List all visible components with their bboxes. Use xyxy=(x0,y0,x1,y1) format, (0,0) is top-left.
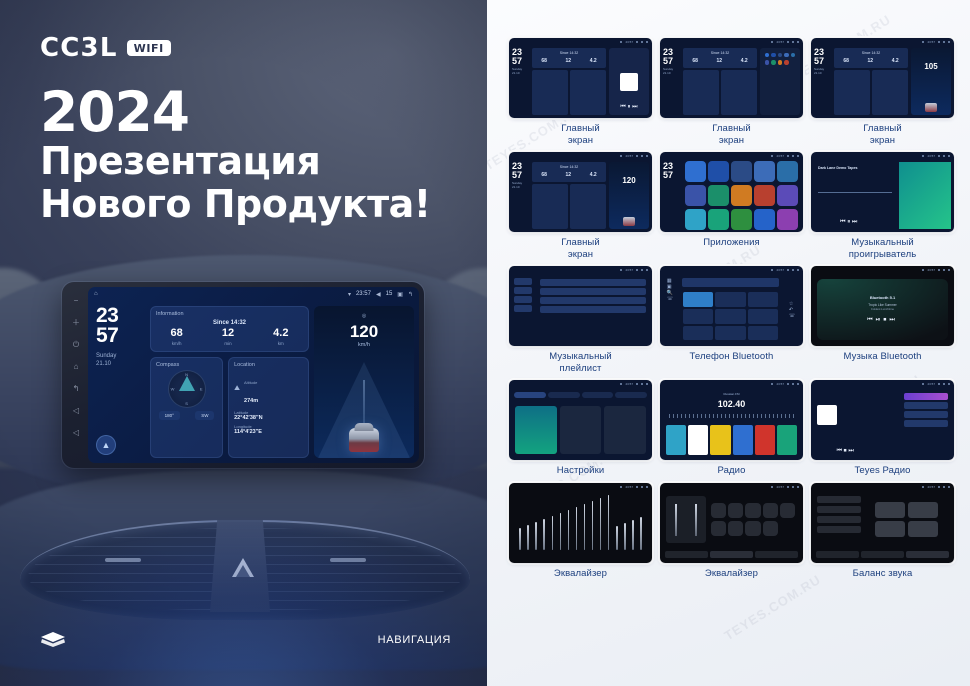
gallery-item[interactable]: 23:572357Sunday21.10Since 14:3268124.212… xyxy=(509,152,652,260)
thumb-app-icon[interactable] xyxy=(708,185,729,206)
dial-key[interactable] xyxy=(748,309,778,324)
status-dot xyxy=(943,486,945,488)
thumb-app-grid[interactable] xyxy=(709,496,797,543)
balance-seats[interactable] xyxy=(865,496,948,543)
balance-option[interactable] xyxy=(817,506,861,513)
thumb-eq-band[interactable] xyxy=(616,526,618,550)
thumb-equalizer-bands[interactable] xyxy=(509,490,652,563)
thumb-stats: 68124.2 xyxy=(532,55,606,66)
radio-preset[interactable] xyxy=(733,425,753,455)
thumb-app-icon[interactable] xyxy=(685,161,706,182)
dial-key[interactable] xyxy=(748,292,778,307)
status-dot xyxy=(641,41,643,43)
eq-tab[interactable] xyxy=(665,551,708,558)
stat-distance: 4.2 km xyxy=(273,328,288,346)
thumb-app-icon[interactable] xyxy=(771,53,775,57)
thumb-app-icon[interactable] xyxy=(731,185,752,206)
balance-option[interactable] xyxy=(817,516,861,523)
thumb-clock: 2357Sunday21.10 xyxy=(512,162,529,229)
thumb-location-card[interactable] xyxy=(570,70,606,115)
hero-panel: CC3L WIFI 2024 Презентация Нового Продук… xyxy=(0,0,487,686)
thumb-eq-band[interactable] xyxy=(608,495,610,550)
thumb-nav-item[interactable] xyxy=(514,278,532,285)
gallery-item[interactable]: 23:57Dark Lane Demo Tapes⏮ ⏸ ⏭Музыкальны… xyxy=(811,152,954,260)
back-icon[interactable]: ↰ xyxy=(408,291,413,298)
thumb-eq-band[interactable] xyxy=(527,525,529,550)
thumb-settings-cards[interactable] xyxy=(512,403,649,457)
screenshot-thumbnail[interactable]: 23:572357Sunday21.10Since 14:3268124.2 xyxy=(660,38,803,118)
eq-slider[interactable] xyxy=(695,504,697,536)
thumb-media-controls[interactable]: ⏮ ⏸ ⏭ xyxy=(609,104,649,111)
thumb-status-bar: 23:57 xyxy=(509,38,652,45)
gallery-item[interactable]: 23:572357Sunday21.10Since 14:3268124.210… xyxy=(811,38,954,146)
logo-text: CC3L xyxy=(40,33,118,63)
home-button[interactable]: ▲ xyxy=(96,435,116,455)
thumb-call-actions[interactable]: ☆↶☏ xyxy=(784,276,800,343)
status-dot xyxy=(922,155,924,157)
thumb-list-item[interactable] xyxy=(540,306,646,313)
dial-key[interactable] xyxy=(715,292,745,307)
radio-presets[interactable] xyxy=(663,423,800,457)
compass-dial: N E S W xyxy=(168,370,206,408)
dial-key[interactable] xyxy=(715,309,745,324)
thumb-app-icon[interactable] xyxy=(765,60,769,64)
navigation-widget[interactable]: ◎ 120 km/h xyxy=(314,306,414,458)
back-key[interactable]: ↰ xyxy=(71,384,81,394)
gallery-item[interactable]: 23:57Эквалайзер xyxy=(660,483,803,580)
dial-key[interactable] xyxy=(748,326,778,341)
status-dot xyxy=(641,269,643,271)
eq-tab[interactable] xyxy=(755,551,798,558)
balance-option[interactable] xyxy=(817,496,861,503)
balance-tabs[interactable] xyxy=(814,549,951,560)
thumb-clock: 2357Sunday21.10 xyxy=(814,48,831,115)
location-latitude-block: Latitude 22°42'38"N xyxy=(234,410,303,421)
compass-title: Compass xyxy=(151,358,222,368)
screenshot-caption: Главныйэкран xyxy=(863,123,902,146)
radio-preset[interactable] xyxy=(710,425,730,455)
thumb-equalizer-presets[interactable] xyxy=(660,490,803,563)
thumb-status-time: 23:57 xyxy=(776,485,784,489)
settings-tab[interactable] xyxy=(582,392,614,398)
compass-east: E xyxy=(200,387,203,392)
thumb-settings[interactable] xyxy=(509,387,652,460)
thumb-status-time: 23:57 xyxy=(625,485,633,489)
screenshot-thumbnail[interactable]: 23:57Dark Lane Demo Tapes⏮ ⏸ ⏭ xyxy=(811,152,954,232)
gallery-item[interactable]: 23:572357Sunday21.10Since 14:3268124.2Гл… xyxy=(660,38,803,146)
status-bar-right: ▾ 23:57 ◀ 15 ▣ ↰ xyxy=(348,291,413,298)
settings-tab[interactable] xyxy=(514,392,546,398)
thumb-nav-item[interactable] xyxy=(514,287,532,294)
volume-down-key[interactable]: − xyxy=(71,296,81,306)
thumb-status-bar: 23:57 xyxy=(660,483,803,490)
seat[interactable] xyxy=(908,521,938,537)
settings-tab[interactable] xyxy=(615,392,647,398)
status-dot xyxy=(797,383,799,385)
gallery-item[interactable]: 23:57Russian FM102.40Радио xyxy=(660,380,803,477)
screenshot-thumbnail[interactable]: 23:57⏮ ⏹ ⏭ xyxy=(811,380,954,460)
thumb-home-screen[interactable]: 2357Sunday21.10Since 14:3268124.2120 xyxy=(509,159,652,232)
status-dot xyxy=(636,155,638,157)
thumb-radio[interactable]: Russian FM102.40 xyxy=(660,387,803,460)
thumb-compass-card[interactable] xyxy=(532,184,568,229)
thumb-home-screen[interactable]: 2357Sunday21.10Since 14:3268124.2 xyxy=(660,45,803,118)
thumb-status-bar: 23:57 xyxy=(660,152,803,159)
speed-readout: 120 km/h xyxy=(314,323,414,348)
longitude-value: 114°4'23"E xyxy=(234,429,303,435)
thumb-bt-title: Bluetooth 5.1 xyxy=(870,295,895,300)
thumb-status-time: 23:57 xyxy=(625,154,633,158)
thumb-location-card[interactable] xyxy=(872,70,908,115)
stat-speed-value: 68 xyxy=(171,328,183,339)
altitude-label: Altitude xyxy=(244,380,257,385)
eq-tabs[interactable] xyxy=(663,549,800,560)
screenshot-caption: Музыкальныйпроигрыватель xyxy=(849,237,917,260)
thumb-status-bar: 23:57 xyxy=(811,38,954,45)
more-card[interactable] xyxy=(604,406,646,454)
thumb-dialer[interactable] xyxy=(680,276,781,343)
wifi-badge-icon: WIFI xyxy=(127,40,171,56)
status-dot xyxy=(922,269,924,271)
thumb-home-screen[interactable]: 2357Sunday21.10Since 14:3268124.2105 xyxy=(811,45,954,118)
screenshot-icon[interactable]: ▣ xyxy=(397,291,403,298)
thumb-list-item[interactable] xyxy=(540,279,646,286)
thumb-clock: 2357Sunday21.10 xyxy=(512,48,529,115)
thumb-info-card[interactable]: Since 14:3268124.2 xyxy=(532,162,606,182)
status-dot xyxy=(636,269,638,271)
radio-preset[interactable] xyxy=(688,425,708,455)
thumb-app-icon[interactable] xyxy=(784,53,788,57)
status-dot xyxy=(938,383,940,385)
thumb-bt-phone[interactable]: ▦▣🔍☏☆↶☏ xyxy=(660,273,803,346)
thumb-widgets: Since 14:3268124.2 xyxy=(683,48,757,115)
thumb-teyes-radio[interactable]: ⏮ ⏹ ⏭ xyxy=(811,387,954,460)
clock-day: Sunday xyxy=(96,352,145,360)
thumb-app-icon[interactable] xyxy=(778,60,782,64)
gallery-panel: TEYES.COM.RU TEYES.COM.RU TEYES.COM.RU T… xyxy=(487,0,970,686)
thumb-status-time: 23:57 xyxy=(927,485,935,489)
thumb-eq-band[interactable] xyxy=(600,498,602,550)
eq-preset-body[interactable] xyxy=(663,493,800,546)
thumb-app-icon[interactable] xyxy=(685,185,706,206)
radio-dial[interactable] xyxy=(669,414,794,418)
stat-speed: 68 km/h xyxy=(171,328,183,346)
teyes-list-item[interactable] xyxy=(904,411,948,418)
thumb-eq-band[interactable] xyxy=(576,507,578,550)
screenshot-thumbnail[interactable]: 23:57Bluetooth 5.1Tropic Like SummerCold… xyxy=(811,266,954,346)
thumb-status-time: 23:57 xyxy=(625,382,633,386)
thumb-eq-band[interactable] xyxy=(568,510,570,550)
thumb-app-icon[interactable] xyxy=(728,503,743,518)
hud-icon: ◎ xyxy=(362,313,366,319)
balance-body[interactable] xyxy=(814,493,951,546)
status-dot xyxy=(787,41,789,43)
thumb-info-card[interactable]: Since 14:3268124.2 xyxy=(683,48,757,68)
seat[interactable] xyxy=(908,502,938,518)
thumb-app-icon[interactable] xyxy=(754,161,775,182)
thumb-status-bar: 23:57 xyxy=(811,266,954,273)
thumb-status-time: 23:57 xyxy=(625,40,633,44)
widgets-column: Information Since 14:32 68 km/h 12 min xyxy=(150,306,309,458)
eq-tab[interactable] xyxy=(710,551,753,558)
thumb-widgets: Since 14:3268124.2 xyxy=(834,48,908,115)
thumb-nav-item[interactable] xyxy=(514,305,532,312)
teyes-list-item[interactable] xyxy=(904,402,948,409)
product-logo: CC3L WIFI xyxy=(40,33,171,63)
thumb-player-controls[interactable]: ⏮ ⏸ ⏭ xyxy=(815,219,883,226)
thumb-eq-band[interactable] xyxy=(543,519,545,550)
gallery-item[interactable]: 23:57▦▣🔍☏☆↶☏Телефон Bluetooth xyxy=(660,266,803,374)
thumb-app-icon[interactable] xyxy=(711,521,726,536)
thumb-app-icon[interactable] xyxy=(745,521,760,536)
dial-key[interactable] xyxy=(683,292,713,307)
status-dot xyxy=(792,269,794,271)
thumb-app-icon[interactable] xyxy=(780,503,795,518)
thumb-track-title: Dark Lane Demo Tapes xyxy=(818,166,892,170)
balance-tab[interactable] xyxy=(816,551,859,558)
thumb-clock-sub: Sunday21.10 xyxy=(814,68,831,76)
screenshot-thumbnail[interactable]: 23:57Russian FM102.40 xyxy=(660,380,803,460)
screenshot-thumbnail[interactable]: 23:57 xyxy=(509,266,652,346)
thumb-app-icon[interactable] xyxy=(711,503,726,518)
thumb-eq-band[interactable] xyxy=(535,522,537,550)
head-unit-side-keys[interactable]: − ＋ ⏻ ⌂ ↰ ◁ ◁ xyxy=(71,296,81,438)
thumb-status-bar: 23:57 xyxy=(660,38,803,45)
mute-key[interactable]: ◁ xyxy=(71,406,81,416)
thumb-dialpad[interactable] xyxy=(680,289,781,343)
status-dot xyxy=(943,383,945,385)
thumb-compass-card[interactable] xyxy=(532,70,568,115)
thumb-phone-nav[interactable]: ▦▣🔍☏ xyxy=(663,276,677,343)
radio-preset[interactable] xyxy=(666,425,686,455)
teyes-list[interactable] xyxy=(901,390,951,457)
thumb-bt-card[interactable]: Bluetooth 5.1Tropic Like SummerColdest L… xyxy=(817,279,948,340)
thumb-app-icon[interactable] xyxy=(731,209,752,230)
thumb-app-drawer[interactable]: 2357 xyxy=(660,159,803,232)
thumb-app-panel[interactable] xyxy=(760,48,800,115)
radio-band: Russian FM xyxy=(663,392,800,396)
gallery-item[interactable]: 23:572357Sunday21.10Since 14:3268124.2⏮ … xyxy=(509,38,652,146)
thumb-app-icon[interactable] xyxy=(763,503,778,518)
thumb-app-icon[interactable] xyxy=(777,209,798,230)
eq-slider[interactable] xyxy=(675,504,677,536)
screenshot-thumbnail[interactable]: 23:572357Sunday21.10Since 14:3268124.212… xyxy=(509,152,652,232)
thumb-progress[interactable] xyxy=(818,192,892,193)
status-dot xyxy=(792,155,794,157)
gallery-item[interactable]: 23:57Bluetooth 5.1Tropic Like SummerCold… xyxy=(811,266,954,374)
home-status-icon[interactable]: ⌂ xyxy=(94,291,98,297)
location-altitude-block: Altitude 274m xyxy=(244,371,258,407)
status-dot xyxy=(938,269,940,271)
carplay-card[interactable] xyxy=(560,406,602,454)
thumb-app-icon[interactable] xyxy=(778,53,782,57)
thumb-location-card[interactable] xyxy=(721,70,757,115)
thumb-eq-band[interactable] xyxy=(640,517,642,550)
gallery-item[interactable]: 23:57Музыкальныйплейлист xyxy=(509,266,652,374)
thumb-since: Since 14:32 xyxy=(532,48,606,55)
screenshot-thumbnail[interactable]: 23:57 xyxy=(811,483,954,563)
thumb-music-playlist[interactable] xyxy=(509,273,652,346)
thumb-eq-band[interactable] xyxy=(552,516,554,550)
thumb-sound-balance[interactable] xyxy=(811,490,954,563)
thumb-status-time: 23:57 xyxy=(776,382,784,386)
home-key[interactable]: ⌂ xyxy=(71,362,81,372)
thumb-app-icon[interactable] xyxy=(708,209,729,230)
thumb-app-icon[interactable] xyxy=(763,521,778,536)
thumb-drive-panel[interactable]: 120 xyxy=(609,162,649,229)
thumb-app-icon[interactable] xyxy=(754,209,775,230)
status-dot xyxy=(771,155,773,157)
dial-key[interactable] xyxy=(683,309,713,324)
gallery-item[interactable]: 23:57⏮ ⏹ ⏭Teyes Радио xyxy=(811,380,954,477)
screenshot-thumbnail[interactable]: 23:57 xyxy=(509,380,652,460)
balance-tab[interactable] xyxy=(861,551,904,558)
teyes-player[interactable]: ⏮ ⏹ ⏭ xyxy=(814,390,898,457)
dial-key[interactable] xyxy=(683,326,713,341)
thumb-drive-panel[interactable]: 105 xyxy=(911,48,951,115)
volume-up-key[interactable]: ＋ xyxy=(71,318,81,328)
thumb-compass-card[interactable] xyxy=(834,70,870,115)
hazard-triangle-inner-icon xyxy=(236,565,250,577)
status-dot xyxy=(636,383,638,385)
status-dot xyxy=(797,155,799,157)
head-unit: − ＋ ⏻ ⌂ ↰ ◁ ◁ ⌂ ▾ 23:57 ◀ 15 ▣ ↰ xyxy=(62,282,424,468)
thumb-app-icon[interactable] xyxy=(708,161,729,182)
headline: 2024 Презентация Нового Продукта! xyxy=(40,84,431,226)
screenshot-thumbnail[interactable]: 23:57 xyxy=(660,483,803,563)
thumb-list-item[interactable] xyxy=(540,297,646,304)
power-key[interactable]: ⏻ xyxy=(71,340,81,350)
status-dot xyxy=(792,41,794,43)
dial-key[interactable] xyxy=(715,326,745,341)
status-dot xyxy=(922,486,924,488)
thumb-playlist-nav[interactable] xyxy=(512,276,534,343)
thumb-app-icon[interactable] xyxy=(771,60,775,64)
thumb-compass-card[interactable] xyxy=(683,70,719,115)
thumb-app-icon[interactable] xyxy=(791,53,795,57)
thumb-app-icon[interactable] xyxy=(754,185,775,206)
screenshot-caption: Баланс звука xyxy=(853,568,913,580)
thumb-app-icon[interactable] xyxy=(777,161,798,182)
teyes-list-item[interactable] xyxy=(904,393,948,400)
thumb-since: Since 14:32 xyxy=(532,162,606,169)
gallery-item[interactable]: 23:572357Приложения xyxy=(660,152,803,260)
location-longitude-block: Longitude 114°4'23"E xyxy=(234,424,303,435)
thumb-app-icon[interactable] xyxy=(745,503,760,518)
location-card[interactable]: Location ⛰ Altitude 274m Latitude xyxy=(228,357,309,458)
thumb-app-icon[interactable] xyxy=(685,209,706,230)
thumb-widget-row xyxy=(834,70,908,115)
screenshot-thumbnail[interactable]: 23:572357Sunday21.10Since 14:3268124.2⏮ … xyxy=(509,38,652,118)
mode-key[interactable]: ◁ xyxy=(71,428,81,438)
thumb-location-card[interactable] xyxy=(570,184,606,229)
status-dot xyxy=(636,486,638,488)
status-dot xyxy=(787,486,789,488)
wifi-card[interactable] xyxy=(515,406,557,454)
radio-preset[interactable] xyxy=(777,425,797,455)
thumb-eq-band[interactable] xyxy=(560,513,562,550)
screenshot-thumbnail[interactable]: 23:57▦▣🔍☏☆↶☏ xyxy=(660,266,803,346)
altitude-icon: ⛰ xyxy=(234,385,240,393)
speed-unit: km/h xyxy=(314,342,414,348)
seat[interactable] xyxy=(875,521,905,537)
status-time: 23:57 xyxy=(356,291,371,297)
thumb-app-icon[interactable] xyxy=(731,161,752,182)
status-dot xyxy=(938,486,940,488)
balance-option[interactable] xyxy=(817,526,861,533)
thumb-eq-band[interactable] xyxy=(592,501,594,550)
seat[interactable] xyxy=(875,502,905,518)
thumb-list[interactable] xyxy=(537,276,649,343)
gallery-item[interactable]: 23:57Баланс звука xyxy=(811,483,954,580)
screenshot-caption: Эквалайзер xyxy=(705,568,758,580)
thumb-bt-controls[interactable]: ⏮⏯⏹⏭ xyxy=(867,317,898,324)
thumb-app-grid[interactable] xyxy=(763,51,797,67)
thumb-list-item[interactable] xyxy=(540,288,646,295)
thumb-status-time: 23:57 xyxy=(776,154,784,158)
status-dot xyxy=(948,383,950,385)
balance-options[interactable] xyxy=(817,496,861,543)
information-card[interactable]: Information Since 14:32 68 km/h 12 min xyxy=(150,306,309,352)
balance-tab[interactable] xyxy=(906,551,949,558)
teyes-list-item[interactable] xyxy=(904,420,948,427)
teyes-controls[interactable]: ⏮ ⏹ ⏭ xyxy=(815,448,875,455)
stat-speed-unit: km/h xyxy=(171,341,183,346)
thumb-app-icon[interactable] xyxy=(728,521,743,536)
thumb-app-icon[interactable] xyxy=(777,185,798,206)
thumb-bt-music[interactable]: Bluetooth 5.1Tropic Like SummerColdest L… xyxy=(811,273,954,346)
thumb-app-icon[interactable] xyxy=(765,53,769,57)
thumb-home-screen[interactable]: 2357Sunday21.10Since 14:3268124.2⏮ ⏸ ⏭ xyxy=(509,45,652,118)
thumb-media-panel[interactable]: ⏮ ⏸ ⏭ xyxy=(609,48,649,115)
status-dot xyxy=(620,269,622,271)
screenshot-thumbnail[interactable]: 23:572357 xyxy=(660,152,803,232)
gallery-item[interactable]: 23:57Настройки xyxy=(509,380,652,477)
status-dot xyxy=(620,486,622,488)
compass-card[interactable]: Compass N E S W 180° S xyxy=(150,357,223,458)
thumb-number-field[interactable] xyxy=(682,278,779,287)
screenshot-thumbnail[interactable]: 23:57 xyxy=(509,483,652,563)
thumb-eq-band[interactable] xyxy=(519,528,521,550)
thumb-status-time: 23:57 xyxy=(927,382,935,386)
thumb-eq-band[interactable] xyxy=(632,520,634,550)
status-dot xyxy=(641,155,643,157)
thumb-equalizer[interactable] xyxy=(512,493,649,560)
screenshot-thumbnail[interactable]: 23:572357Sunday21.10Since 14:3268124.210… xyxy=(811,38,954,118)
stat-time-unit: min xyxy=(222,341,234,346)
thumb-track-info: Dark Lane Demo Tapes⏮ ⏸ ⏭ xyxy=(814,162,896,229)
thumb-nav-item[interactable] xyxy=(514,296,532,303)
settings-tab[interactable] xyxy=(548,392,580,398)
thumb-eq-band[interactable] xyxy=(584,504,586,550)
thumb-music-player[interactable]: Dark Lane Demo Tapes⏮ ⏸ ⏭ xyxy=(811,159,954,232)
radio-preset[interactable] xyxy=(755,425,775,455)
vent-marker-right xyxy=(330,558,366,562)
head-unit-screen[interactable]: ⌂ ▾ 23:57 ◀ 15 ▣ ↰ 23 57 Sunday xyxy=(88,287,419,463)
thumb-info-card[interactable]: Since 14:3268124.2 xyxy=(532,48,606,68)
eq-sliders[interactable] xyxy=(666,496,706,543)
thumb-info-card[interactable]: Since 14:3268124.2 xyxy=(834,48,908,68)
thumb-speed: 105 xyxy=(911,48,951,71)
thumb-app-icon[interactable] xyxy=(784,60,788,64)
compass-readout: 180° SW xyxy=(151,411,222,420)
status-dot xyxy=(948,41,950,43)
thumb-eq-band[interactable] xyxy=(624,523,626,550)
status-dot xyxy=(787,269,789,271)
gallery-item[interactable]: 23:57Эквалайзер xyxy=(509,483,652,580)
thumb-app-grid[interactable] xyxy=(683,162,800,229)
thumb-settings-tabs[interactable] xyxy=(512,390,649,400)
